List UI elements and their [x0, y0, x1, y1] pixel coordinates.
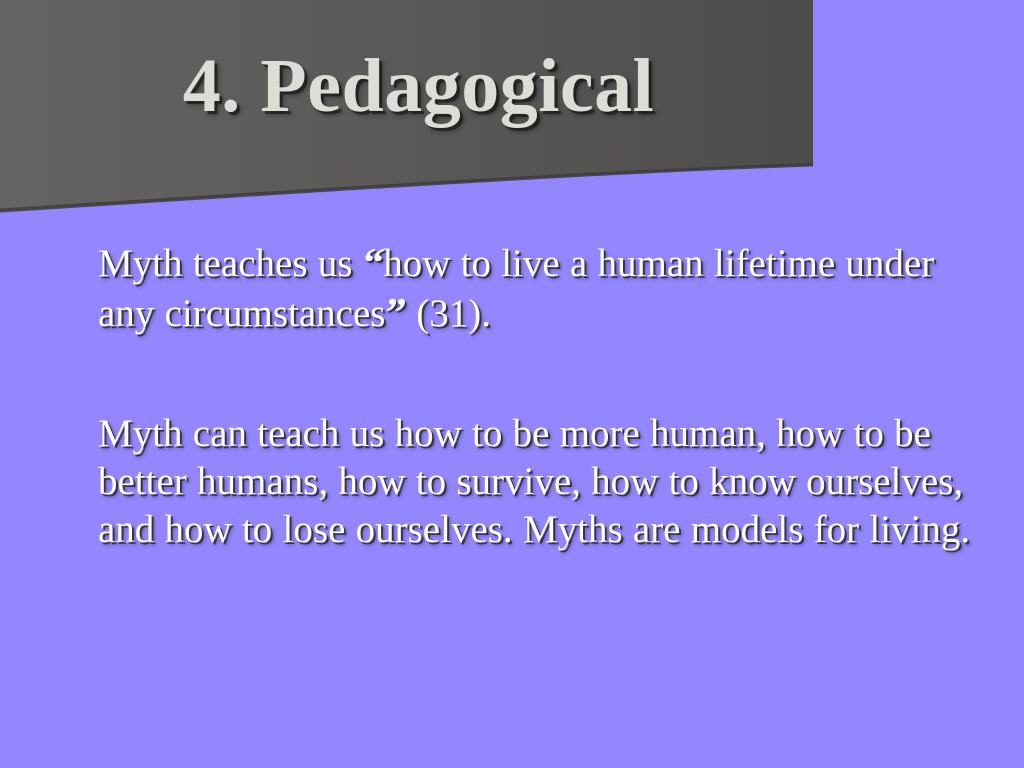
- slide-body: Myth teaches us “how to live a human lif…: [98, 238, 978, 554]
- statement-paragraph: Myth can teach us how to be more human, …: [98, 410, 978, 554]
- paragraph-spacer: [98, 338, 978, 410]
- quote-citation: (31).: [406, 292, 491, 335]
- quote-lead-in: Myth teaches us: [98, 242, 363, 285]
- quote-paragraph: Myth teaches us “how to live a human lif…: [98, 238, 970, 338]
- title-banner: 4. Pedagogical: [0, 0, 813, 215]
- presentation-slide: 4. Pedagogical Myth teaches us “how to l…: [0, 0, 1024, 768]
- page-title: 4. Pedagogical: [0, 48, 813, 124]
